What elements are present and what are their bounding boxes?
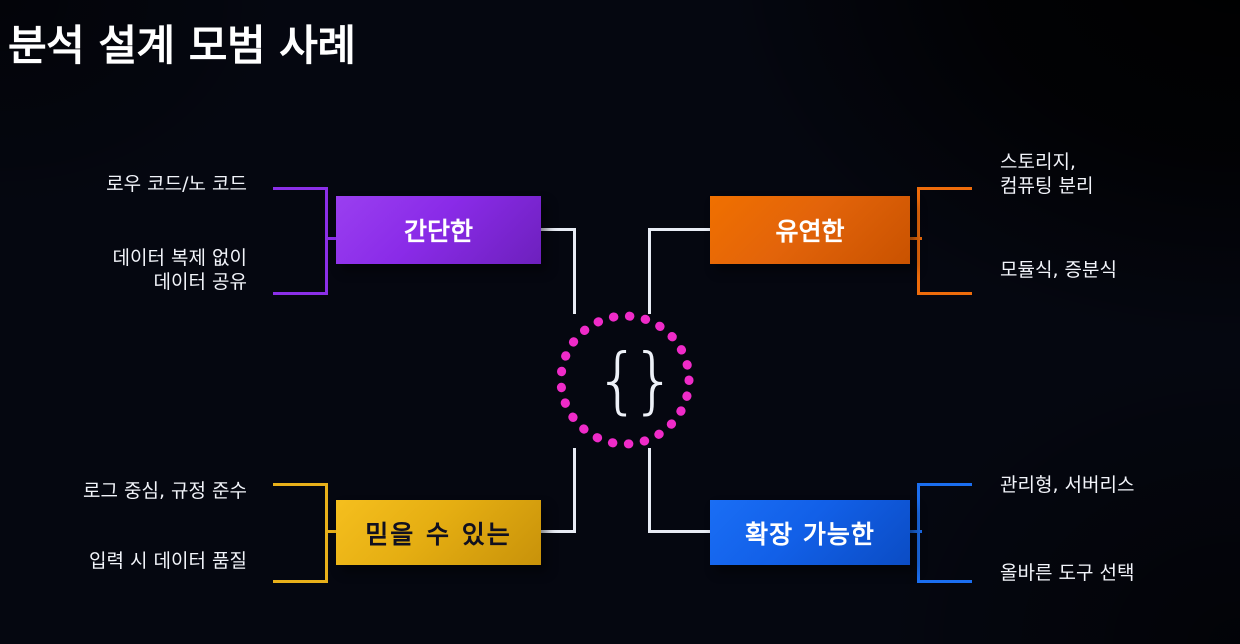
bracket-arm-top: [273, 187, 328, 190]
bracket-spine: [917, 187, 920, 295]
bracket-arm-top: [917, 483, 972, 486]
center-connector-bottom-left-vertical: [573, 448, 576, 533]
center-connector-top-left-vertical: [573, 228, 576, 314]
center-connector-bottom-right-horizontal: [648, 530, 714, 533]
caption-simple-1: 로우 코드/노 코드: [106, 172, 247, 196]
bracket-connector-reliable: [273, 483, 339, 583]
caption-scalable-2: 올바른 도구 선택: [1000, 561, 1134, 585]
center-hub: { }: [551, 306, 699, 454]
bracket-connector-flexible: [906, 187, 972, 295]
bracket-arm-bottom: [917, 292, 972, 295]
caption-flexible-2: 모듈식, 증분식: [1000, 258, 1117, 282]
caption-flexible-1: 스토리지, 컴퓨팅 분리: [1000, 150, 1093, 199]
caption-simple-2: 데이터 복제 없이 데이터 공유: [113, 246, 247, 295]
bracket-spine: [325, 483, 328, 583]
bracket-connector-simple: [273, 187, 339, 295]
node-flexible[interactable]: 유연한: [710, 196, 910, 264]
bracket-arm-bottom: [917, 580, 972, 583]
curly-brace-close-icon: }: [631, 344, 677, 416]
bracket-connector-scalable: [906, 483, 972, 583]
center-connector-bottom-right-vertical: [648, 448, 651, 533]
center-connector-top-right-horizontal: [648, 228, 714, 231]
center-connector-top-left-horizontal: [536, 228, 576, 231]
bracket-arm-bottom: [273, 292, 328, 295]
caption-reliable-2: 입력 시 데이터 품질: [89, 549, 247, 573]
caption-reliable-1: 로그 중심, 규정 준수: [83, 479, 247, 503]
node-simple[interactable]: 간단한: [336, 196, 541, 264]
bracket-spine: [917, 483, 920, 583]
caption-scalable-1: 관리형, 서버리스: [1000, 473, 1134, 497]
bracket-arm-bottom: [273, 580, 328, 583]
center-connector-bottom-left-horizontal: [536, 530, 576, 533]
bracket-arm-top: [273, 483, 328, 486]
bracket-spine: [325, 187, 328, 295]
slide-canvas: 분석 설계 모범 사례 { }: [0, 0, 1240, 644]
node-scalable[interactable]: 확장 가능한: [710, 500, 910, 565]
page-title: 분석 설계 모범 사례: [8, 12, 356, 73]
bracket-arm-top: [917, 187, 972, 190]
center-connector-top-right-vertical: [648, 228, 651, 314]
node-reliable[interactable]: 믿을 수 있는: [336, 500, 541, 565]
